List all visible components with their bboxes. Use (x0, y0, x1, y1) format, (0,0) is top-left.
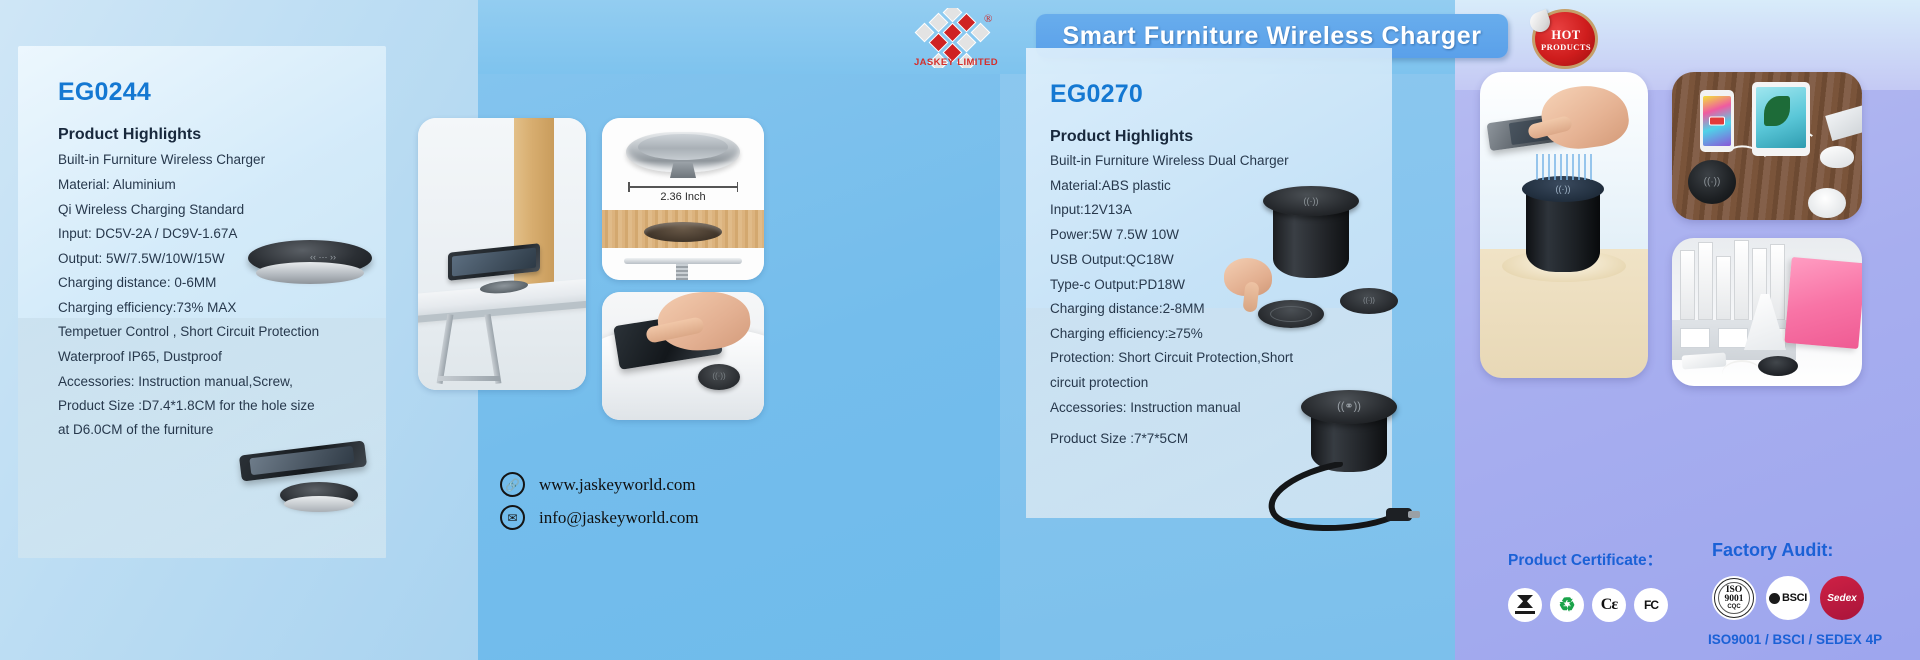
spec-right-4: USB Output:QC18W (1050, 252, 1174, 267)
spec-right-9: circuit protection (1050, 375, 1148, 390)
fcc-mark-icon: FC (1634, 588, 1668, 622)
highlights-title-right: Product Highlights (1050, 128, 1193, 146)
spec-right-1: Material:ABS plastic (1050, 178, 1171, 193)
spec-right-3: Power:5W 7.5W 10W (1050, 227, 1179, 242)
envelope-icon: ✉ (500, 505, 525, 530)
spec-left-11: at D6.0CM of the furniture (58, 422, 213, 437)
spec-right-2: Input:12V13A (1050, 202, 1132, 217)
weee-icon (1508, 588, 1542, 622)
website-text[interactable]: www.jaskeyworld.com (539, 475, 696, 495)
spec-left-4: Output: 5W/7.5W/10W/15W (58, 251, 225, 266)
sedex-badge: Sedex (1820, 576, 1864, 620)
factory-audit-caption: ISO9001 / BSCI / SEDEX 4P (1708, 632, 1882, 647)
contact-email-row[interactable]: ✉ info@jaskeyworld.com (500, 505, 699, 530)
spec-right-0: Built-in Furniture Wireless Dual Charger (1050, 153, 1289, 168)
dimension-label: 2.36 Inch (602, 191, 764, 203)
spec-right-10: Accessories: Instruction manual (1050, 400, 1241, 415)
wireless-icon-eg0270-small: ((·)) (1363, 298, 1375, 305)
photo-desk-scene (418, 118, 586, 390)
wireless-icon-desk-scene: ((·)) (1704, 177, 1721, 188)
spec-left-1: Material: Aluminium (58, 177, 176, 192)
sku-eg0270: EG0270 (1050, 80, 1143, 109)
spec-right-8: Protection: Short Circuit Protection,Sho… (1050, 350, 1293, 365)
spec-left-2: Qi Wireless Charging Standard (58, 202, 244, 217)
hot-badge-line2: PRODUCTS (1530, 42, 1602, 52)
eg0244-charger-render-top: ‹‹ ⋯ ›› (248, 240, 372, 290)
link-icon: 🔗 (500, 472, 525, 497)
spec-right-7: Charging efficiency:≥75% (1050, 326, 1203, 341)
bsci-badge-label: BSCI (1782, 592, 1807, 604)
factory-audit-heading: Factory Audit: (1712, 540, 1833, 561)
iso9001-badge: ISO 9001 CQC (1712, 576, 1756, 620)
spec-left-9: Accessories: Instruction manual,Screw, (58, 374, 293, 389)
factory-audit-row: ISO 9001 CQC BSCI Sedex (1712, 576, 1864, 620)
spec-left-6: Charging efficiency:73% MAX (58, 300, 236, 315)
wireless-icon-big-scene: ((·)) (1556, 184, 1571, 194)
photo-office-shelf (1672, 238, 1862, 386)
wireless-icon-eg0244: ‹‹ ⋯ ›› (310, 252, 336, 263)
email-text[interactable]: info@jaskeyworld.com (539, 508, 699, 528)
finger-pressing-graphic (1218, 258, 1280, 324)
photo-dimension-diagram: 2.36 Inch (602, 118, 764, 280)
eg0270-render-small: ((·)) (1340, 288, 1398, 314)
spec-left-7: Tempetuer Control , Short Circuit Protec… (58, 324, 319, 339)
eg0244-charger-render-bottom (240, 438, 384, 518)
spec-left-0: Built-in Furniture Wireless Charger (58, 152, 265, 167)
eg0270-cable-graphic (1258, 462, 1428, 538)
wireless-icon-eg0270-bottom: ((⚭)) (1337, 399, 1361, 412)
photo-desk-phone-tablet: ((·)) (1672, 72, 1862, 220)
photo-hand-tablet: ((·)) (602, 292, 764, 420)
highlights-title-left: Product Highlights (58, 126, 201, 144)
wireless-icon-eg0270: ((·)) (1304, 196, 1319, 206)
ce-mark-icon: Cε (1592, 588, 1626, 622)
banner-title: Smart Furniture Wireless Charger (1062, 22, 1481, 51)
spec-right-11: Product Size :7*7*5CM (1050, 431, 1188, 446)
product-certificate-heading: Product Certificate： (1508, 548, 1662, 570)
photo-big-recessed-charger: ((·)) (1480, 72, 1648, 378)
svg-text:®: ® (984, 13, 992, 25)
spec-left-10: Product Size :D7.4*1.8CM for the hole si… (58, 398, 315, 413)
wireless-icon-hand-scene: ((·)) (712, 372, 725, 381)
spec-left-5: Charging distance: 0-6MM (58, 275, 216, 290)
product-banner: ® JASKEY LIMITED Smart Furniture Wireles… (0, 0, 1920, 660)
hot-products-badge: HOT PRODUCTS (1530, 6, 1602, 72)
sku-eg0244: EG0244 (58, 78, 151, 107)
product-certificate-row: ♻ Cε FC (1508, 588, 1668, 622)
iso-badge-line2: 9001 (1725, 595, 1744, 604)
brand-name: JASKEY LIMITED (906, 57, 1006, 68)
spec-left-3: Input: DC5V-2A / DC9V-1.67A (58, 226, 237, 241)
recycle-icon: ♻ (1550, 588, 1584, 622)
contact-website-row[interactable]: 🔗 www.jaskeyworld.com (500, 472, 696, 497)
spec-left-8: Waterproof IP65, Dustproof (58, 349, 222, 364)
spec-right-5: Type-c Output:PD18W (1050, 277, 1185, 292)
spec-right-6: Charging distance:2-8MM (1050, 301, 1205, 316)
iso-badge-line3: CQC (1727, 604, 1740, 610)
bsci-badge: BSCI (1766, 576, 1810, 620)
sedex-badge-label: Sedex (1827, 593, 1856, 604)
